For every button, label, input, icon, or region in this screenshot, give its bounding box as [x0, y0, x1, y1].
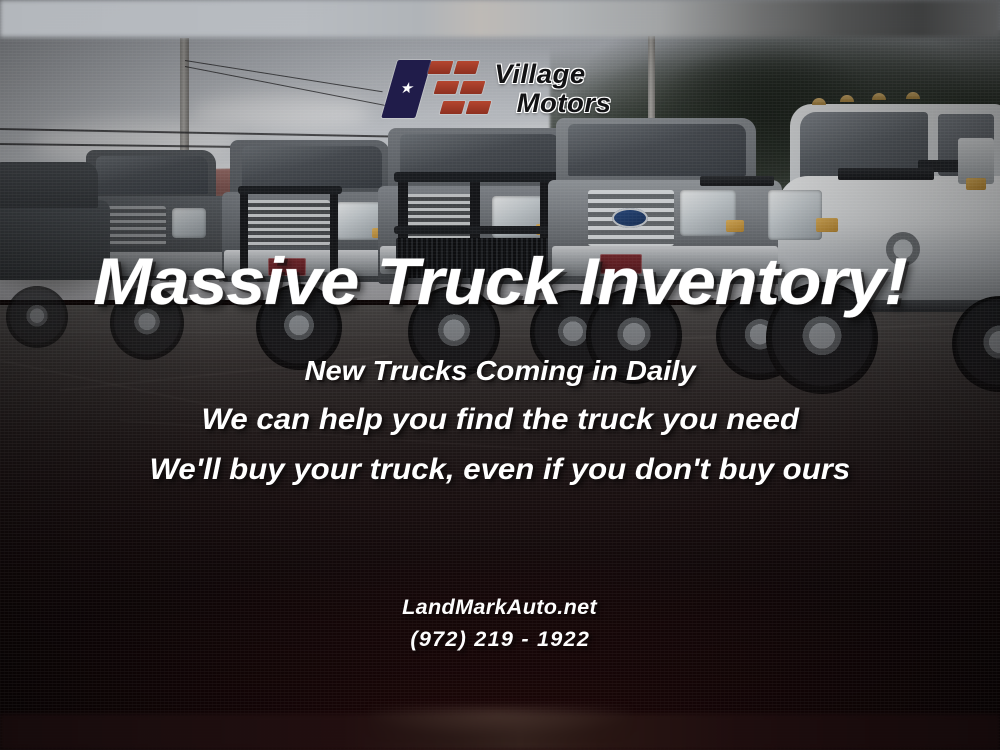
banner-content: ★ Village Motors Massive Truck Inventory… [0, 0, 1000, 750]
flag-stripe [460, 81, 486, 94]
flag-stripe [434, 81, 460, 94]
texas-flag-stripes-icon: ★ [390, 60, 486, 118]
logo-line-motors: Motors [517, 90, 612, 117]
subheadline-1-text: New Trucks Coming in Daily [304, 355, 695, 387]
website-link[interactable]: LandMarkAuto.net [405, 596, 594, 620]
logo-wordmark: Village Motors [496, 61, 611, 117]
contact-footer: LandMarkAuto.net (972) 219 - 1922 [0, 596, 1000, 652]
website-text: LandMarkAuto.net [403, 596, 598, 620]
flag-stripe [454, 61, 480, 74]
headline-text: Massive Truck Inventory! [93, 248, 906, 314]
headline: Massive Truck Inventory! [116, 248, 883, 314]
flag-stripe [428, 61, 454, 74]
logo-line-village: Village [494, 61, 611, 88]
village-motors-logo[interactable]: ★ Village Motors [390, 60, 611, 118]
phone-link[interactable]: (972) 219 - 1922 [413, 628, 587, 652]
subheadline-1: New Trucks Coming in Daily [312, 355, 688, 387]
subheadline-3: We'll buy your truck, even if you don't … [163, 453, 837, 487]
subheadline-group: New Trucks Coming in Daily We can help y… [0, 355, 1000, 487]
promo-banner: ★ Village Motors Massive Truck Inventory… [0, 0, 1000, 750]
phone-text: (972) 219 - 1922 [410, 628, 590, 652]
subheadline-3-text: We'll buy your truck, even if you don't … [150, 453, 851, 487]
flag-stripe [466, 101, 492, 114]
subheadline-2: We can help you find the truck you need [213, 403, 788, 437]
subheadline-2-text: We can help you find the truck you need [201, 403, 799, 437]
flag-stripe [440, 101, 466, 114]
